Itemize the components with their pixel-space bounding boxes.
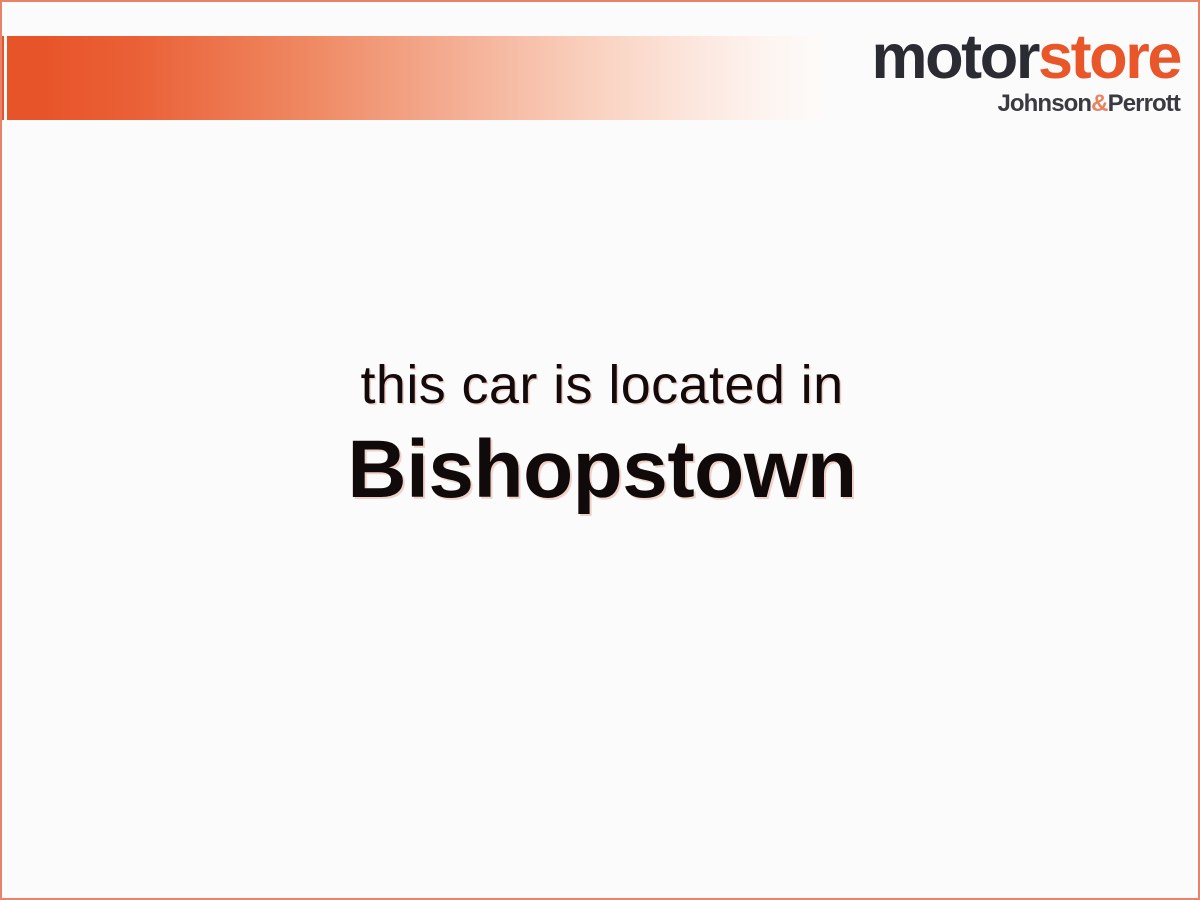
brand-logo-store-text: store	[1038, 22, 1180, 92]
brand-logo-wordmark: motorstore	[871, 26, 1180, 89]
header: motorstore Johnson&Perrott	[2, 2, 1200, 152]
location-message-lead: this car is located in	[2, 354, 1200, 418]
brand-logo-subtitle: Johnson&Perrott	[871, 92, 1180, 116]
brand-logo-subtitle-perrott: Perrott	[1108, 90, 1180, 117]
brand-logo[interactable]: motorstore Johnson&Perrott	[871, 26, 1180, 116]
location-card: motorstore Johnson&Perrott this car is l…	[0, 0, 1200, 900]
brand-logo-subtitle-johnson: Johnson	[997, 90, 1091, 117]
location-message: this car is located in Bishopstown	[2, 354, 1200, 516]
location-message-place-name: Bishopstown	[2, 424, 1200, 516]
brand-logo-motor-text: motor	[871, 22, 1037, 92]
brand-logo-ampersand: &	[1091, 90, 1107, 117]
orange-gradient-banner	[2, 36, 822, 120]
